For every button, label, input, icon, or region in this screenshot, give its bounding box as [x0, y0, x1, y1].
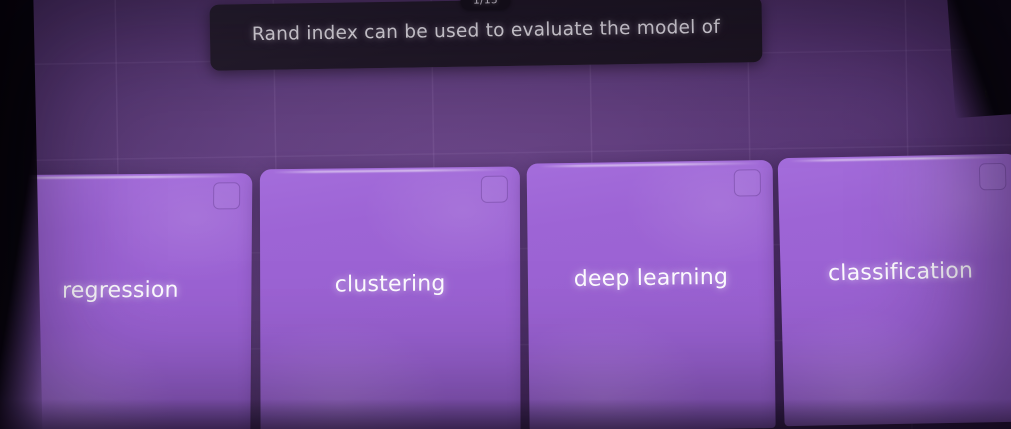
answer-option-label: clustering [260, 270, 520, 298]
card-sheen [778, 154, 1011, 427]
device-bezel-right [947, 0, 1011, 118]
card-sheen [527, 160, 776, 429]
answer-option-label: deep learning [528, 264, 774, 293]
checkbox-unchecked-icon[interactable] [734, 169, 761, 196]
answer-option-card[interactable]: classification [778, 154, 1011, 427]
checkbox-unchecked-icon[interactable] [979, 163, 1007, 191]
question-banner: 1/15 Rand index can be used to evaluate … [210, 0, 763, 71]
checkbox-unchecked-icon[interactable] [481, 176, 508, 203]
checkbox-unchecked-icon[interactable] [213, 182, 240, 209]
answer-option-card[interactable]: deep learning [527, 160, 776, 429]
device-screen: 1/15 Rand index can be used to evaluate … [0, 0, 1011, 429]
question-text: Rand index can be used to evaluate the m… [210, 16, 762, 46]
question-counter-badge: 1/15 [460, 0, 510, 10]
answer-option-label: classification [780, 258, 1011, 288]
answer-option-card[interactable]: clustering [260, 166, 521, 429]
quiz-screen-photo: 1/15 Rand index can be used to evaluate … [0, 0, 1011, 429]
